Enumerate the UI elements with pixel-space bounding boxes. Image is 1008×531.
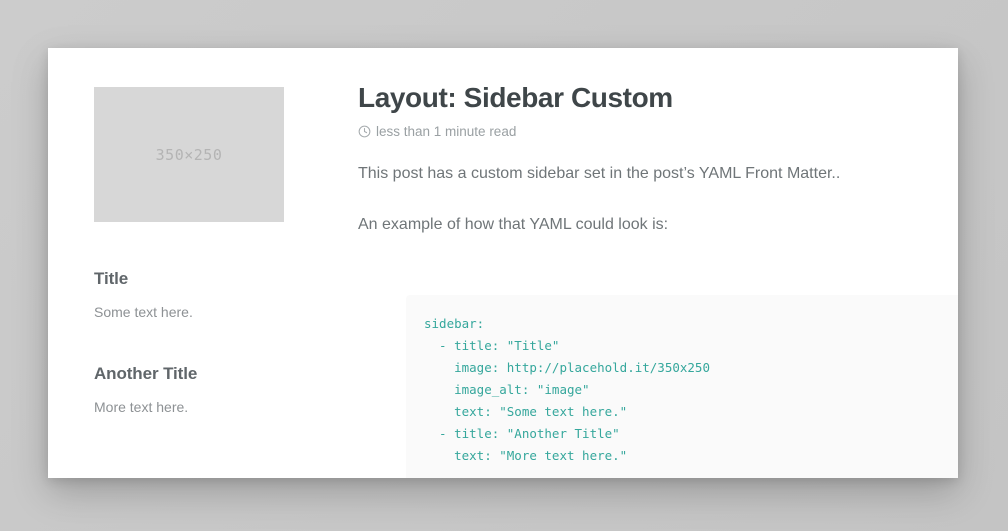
yaml-code-block: sidebar: - title: "Title" image: http://…: [406, 295, 958, 478]
post-meta: less than 1 minute read: [358, 124, 958, 139]
sidebar-placeholder-image: 350×250: [94, 87, 284, 222]
sidebar-block-1-text: Some text here.: [94, 304, 294, 320]
content-card: 350×250 Title Some text here. Another Ti…: [48, 48, 958, 478]
sidebar-placeholder-label: 350×250: [156, 146, 223, 164]
yaml-code-text: sidebar: - title: "Title" image: http://…: [424, 313, 958, 467]
sidebar-block-2: Another Title More text here.: [94, 364, 294, 415]
clock-icon: [358, 125, 371, 138]
sidebar-block-1: Title Some text here.: [94, 269, 294, 320]
page-title: Layout: Sidebar Custom: [358, 82, 958, 114]
post-main-column: Layout: Sidebar Custom less than 1 minut…: [358, 82, 958, 478]
card-inner: 350×250 Title Some text here. Another Ti…: [48, 48, 958, 478]
sidebar-block-2-title: Another Title: [94, 364, 294, 384]
post-paragraph-1: This post has a custom sidebar set in th…: [358, 162, 958, 186]
post-paragraph-2: An example of how that YAML could look i…: [358, 213, 958, 237]
read-time-label: less than 1 minute read: [376, 124, 516, 139]
sidebar-block-2-text: More text here.: [94, 399, 294, 415]
sidebar-block-1-title: Title: [94, 269, 294, 289]
post-sidebar: 350×250 Title Some text here. Another Ti…: [94, 87, 294, 415]
